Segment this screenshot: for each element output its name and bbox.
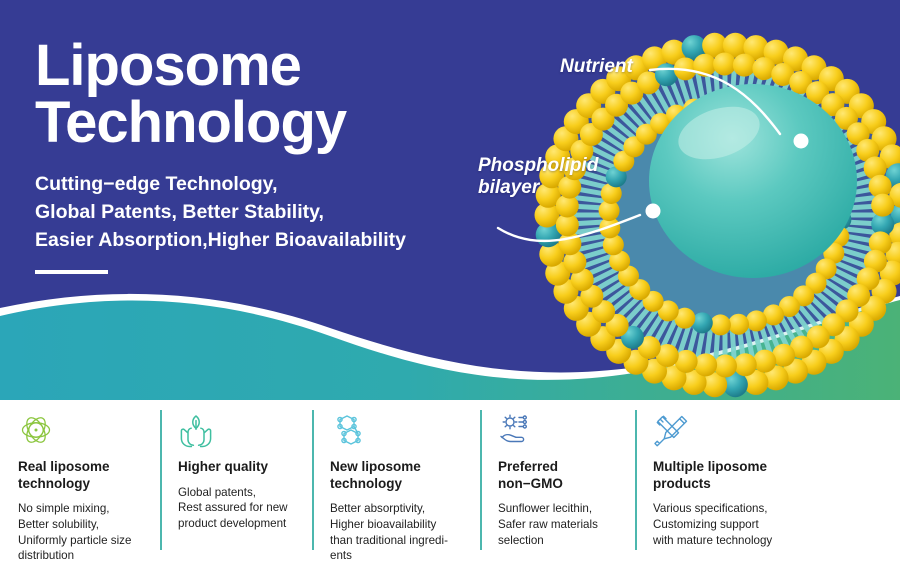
feature-description: Global patents, Rest assured for new pro…: [178, 485, 298, 532]
pencil-ruler-icon: [653, 412, 806, 448]
feature-item-preferred-non-gmo[interactable]: Preferred non−GMO Sunflower lecithin, Sa…: [480, 404, 635, 565]
feature-description: No simple mixing, Better solubility, Uni…: [18, 501, 146, 563]
nutrient-marker-dot: [794, 134, 809, 149]
feature-title: New liposome technology: [330, 459, 466, 492]
feature-row: Real liposome technology No simple mixin…: [0, 404, 900, 565]
feature-title: Higher quality: [178, 459, 298, 476]
atom-icon: [18, 412, 146, 448]
infographic-canvas: Liposome Technology Cutting−edge Technol…: [0, 0, 900, 565]
hands-leaf-icon: [178, 412, 298, 448]
feature-item-higher-quality[interactable]: Higher quality Global patents, Rest assu…: [160, 404, 312, 565]
feature-title: Multiple liposome products: [653, 459, 806, 492]
bilayer-marker-dot: [646, 204, 661, 219]
hand-gear-icon: [498, 412, 621, 448]
feature-description: Better absorptivity, Higher bioavailabil…: [330, 501, 466, 563]
feature-item-new-liposome-technology[interactable]: New liposome technology Better absorptiv…: [312, 404, 480, 565]
feature-item-real-liposome-technology[interactable]: Real liposome technology No simple mixin…: [0, 404, 160, 565]
callout-leader-lines: [0, 0, 900, 405]
callout-label-nutrient: Nutrient: [560, 56, 633, 78]
molecule-icon: [330, 412, 466, 448]
feature-description: Various specifications, Customizing supp…: [653, 501, 806, 548]
feature-title: Preferred non−GMO: [498, 459, 621, 492]
feature-item-multiple-liposome-products[interactable]: Multiple liposome products Various speci…: [635, 404, 820, 565]
callout-label-phospholipid-bilayer: Phospholipid bilayer: [478, 155, 598, 200]
feature-description: Sunflower lecithin, Safer raw materials …: [498, 501, 621, 548]
feature-title: Real liposome technology: [18, 459, 146, 492]
